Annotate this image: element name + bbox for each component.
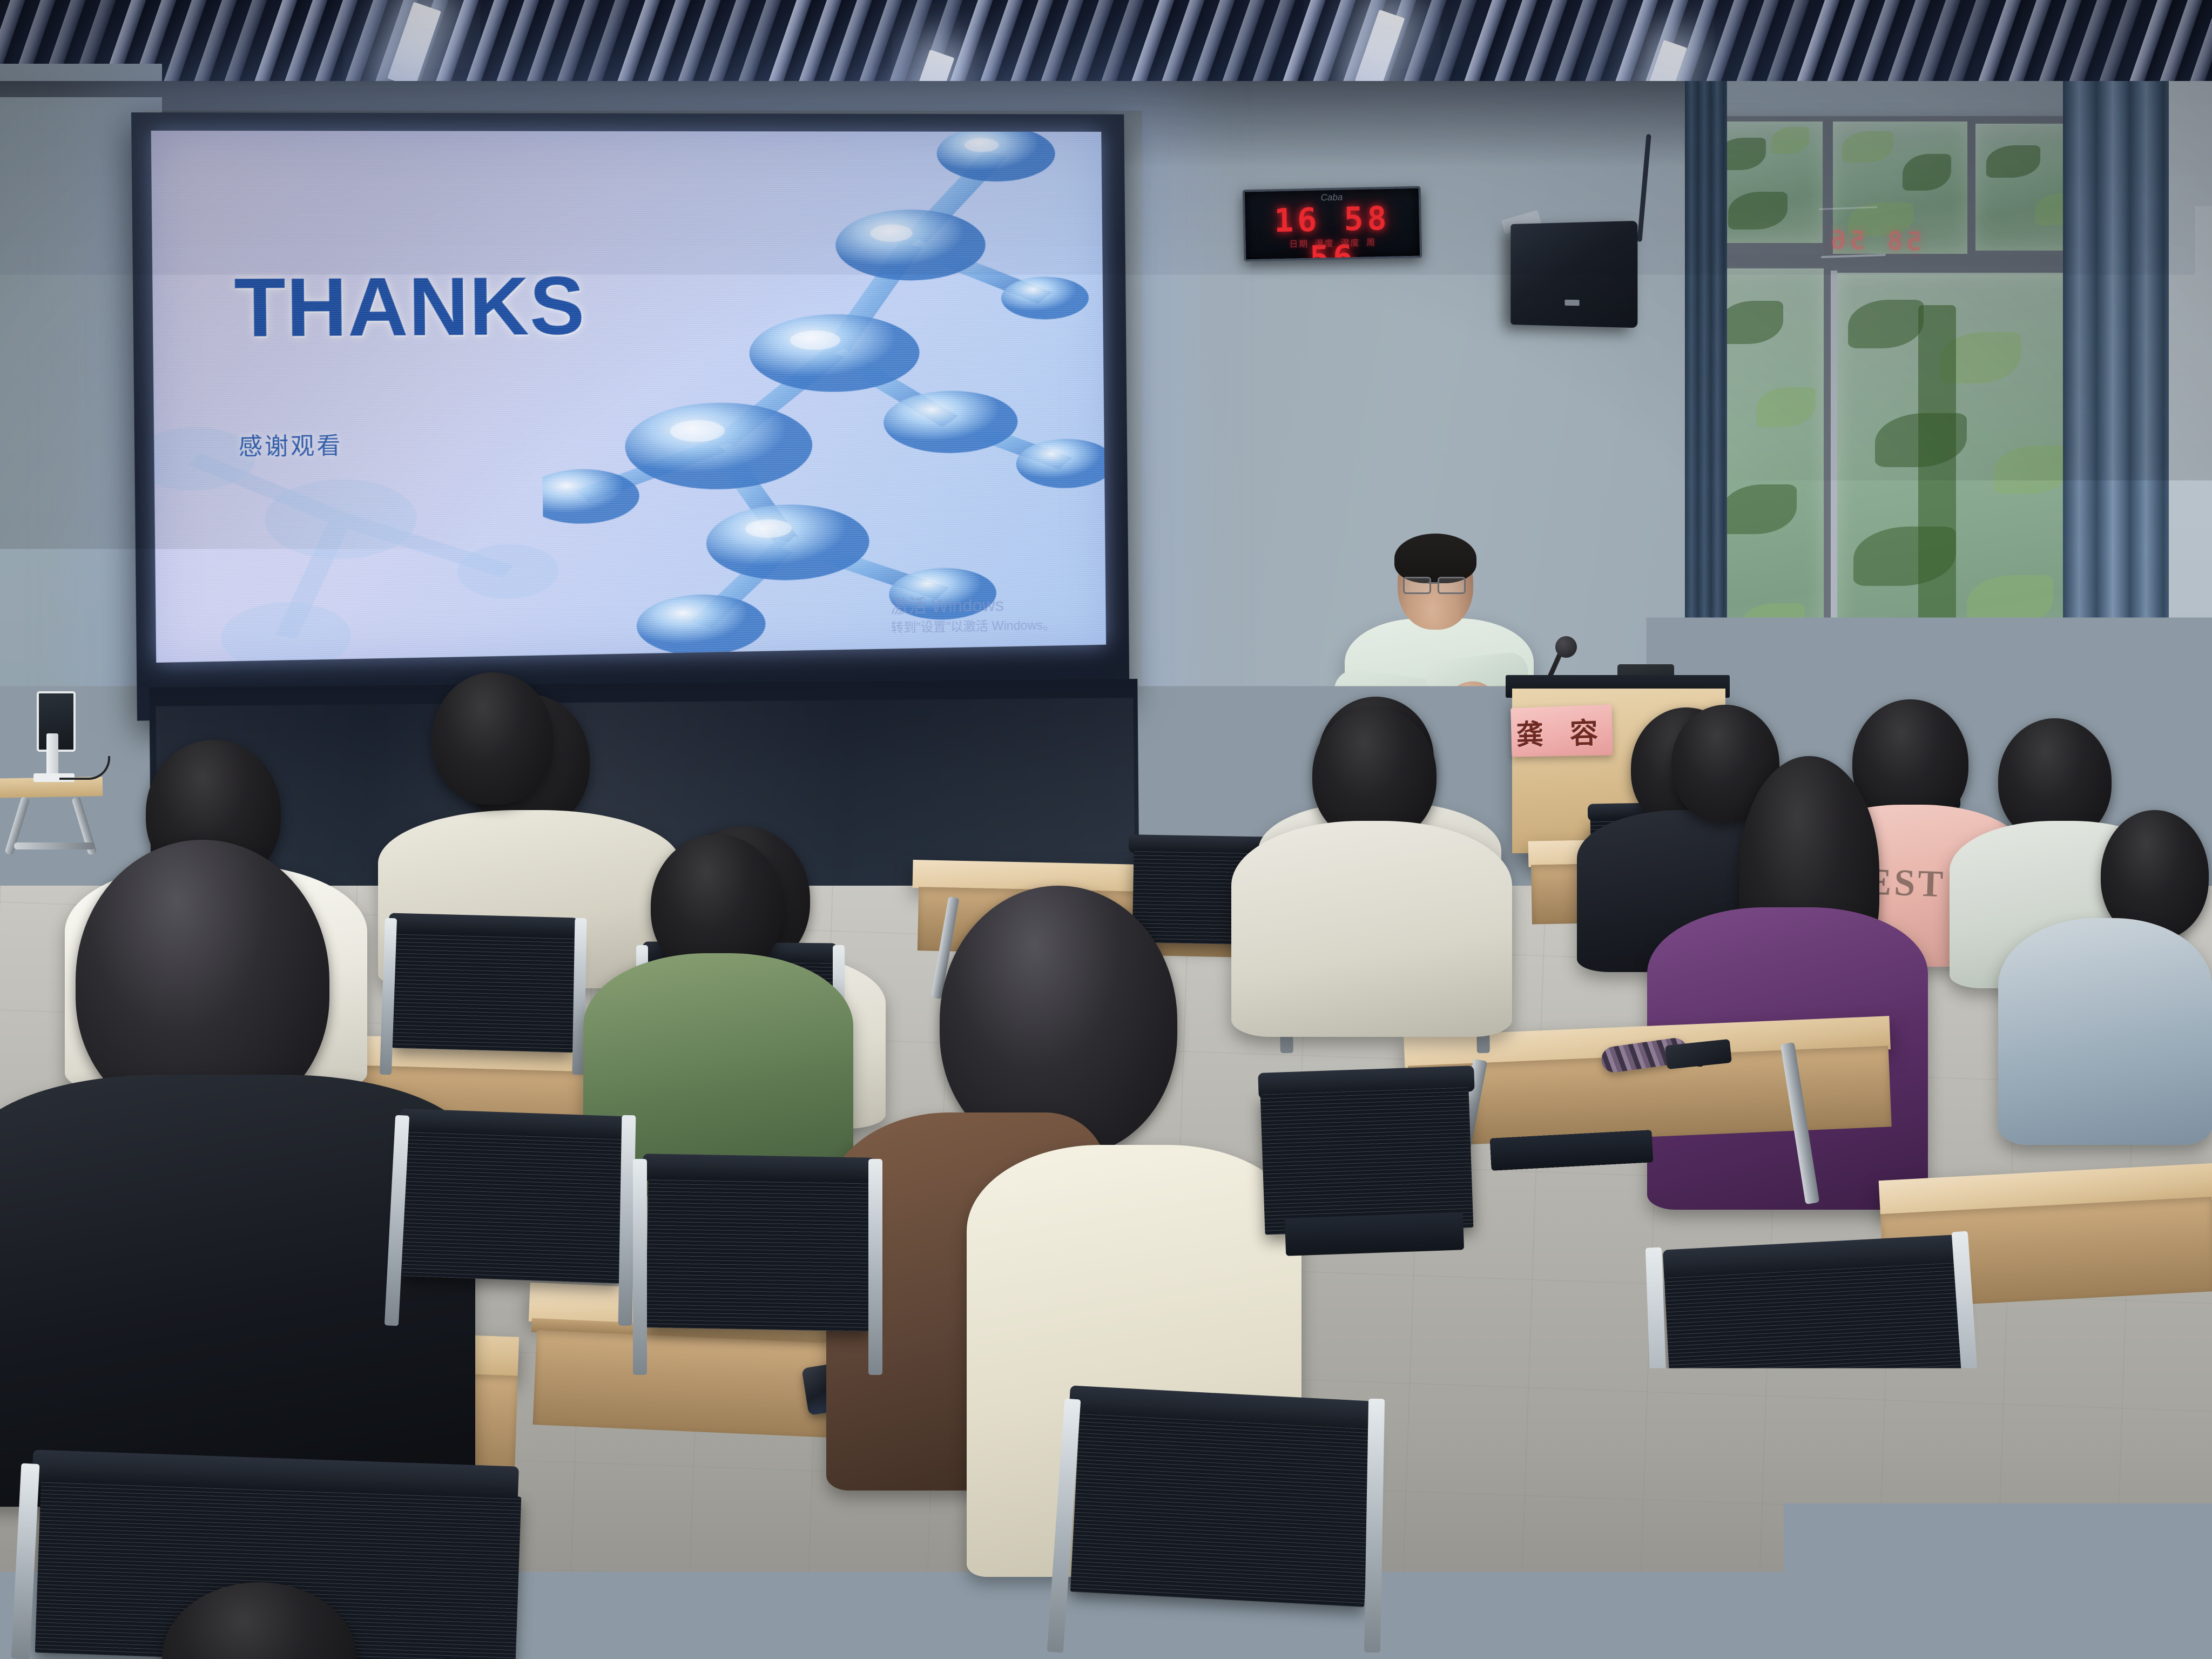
clock-reflection-in-glass: 58 56 bbox=[1827, 225, 1922, 257]
terminal-desk-crossbar bbox=[14, 842, 95, 849]
speaker-logo-icon bbox=[1564, 300, 1579, 306]
classroom-scene: 58 56 bbox=[0, 0, 2212, 1659]
chair-front-2-frame-right bbox=[868, 1159, 882, 1375]
molecule-artwork-icon bbox=[539, 131, 1106, 663]
chair-base-1 bbox=[1285, 1212, 1464, 1256]
student-grey-collar-head bbox=[432, 672, 554, 805]
window-sash-bar bbox=[1831, 271, 1837, 771]
watermark-line-2: 转到"设置"以激活 Windows。 bbox=[891, 617, 1055, 638]
chair-front-2-back[interactable] bbox=[646, 1176, 873, 1331]
nameplate-name: 龚 容 bbox=[1516, 710, 1607, 752]
slide-title: THANKS bbox=[234, 265, 585, 349]
projection-screen[interactable]: THANKS 感谢观看 激活 Windows 转到"设置"以激活 Windows… bbox=[151, 131, 1106, 663]
presenter-glasses-icon bbox=[1403, 577, 1468, 591]
student-mid-grey-torso bbox=[1231, 821, 1512, 1037]
led-clock: Caba 16 58 56 日期 温度 湿度 周 bbox=[1243, 186, 1422, 262]
window-mullion-vertical-2 bbox=[1968, 119, 1975, 255]
wall-speaker bbox=[1510, 221, 1637, 328]
microphone-head-icon bbox=[1555, 636, 1577, 658]
chair-front-1-back[interactable] bbox=[401, 1130, 625, 1284]
led-clock-time: 16 58 56 bbox=[1245, 199, 1420, 262]
student-right-blue-torso bbox=[1998, 918, 2212, 1145]
watermark-line-1: 激活 Windows bbox=[891, 593, 1055, 621]
molecule-artwork-secondary-icon bbox=[151, 414, 564, 663]
slide-subtitle: 感谢观看 bbox=[238, 427, 342, 462]
podium-nameplate: 龚 容 bbox=[1510, 705, 1613, 757]
windows-activation-watermark: 激活 Windows 转到"设置"以激活 Windows。 bbox=[891, 593, 1055, 638]
right-wall-strip bbox=[2169, 81, 2212, 918]
presenter-hair bbox=[1394, 534, 1476, 583]
projection-screen-housing: THANKS 感谢观看 激活 Windows 转到"设置"以激活 Windows… bbox=[131, 112, 1129, 721]
chair-right-front-back[interactable] bbox=[1664, 1263, 1968, 1456]
chair-mid-1-back[interactable] bbox=[392, 932, 576, 1053]
window-pane-bottom-right bbox=[1837, 273, 2096, 775]
chair-front-2-frame-left bbox=[633, 1159, 647, 1375]
chair-front-3-back[interactable] bbox=[1070, 1414, 1374, 1607]
